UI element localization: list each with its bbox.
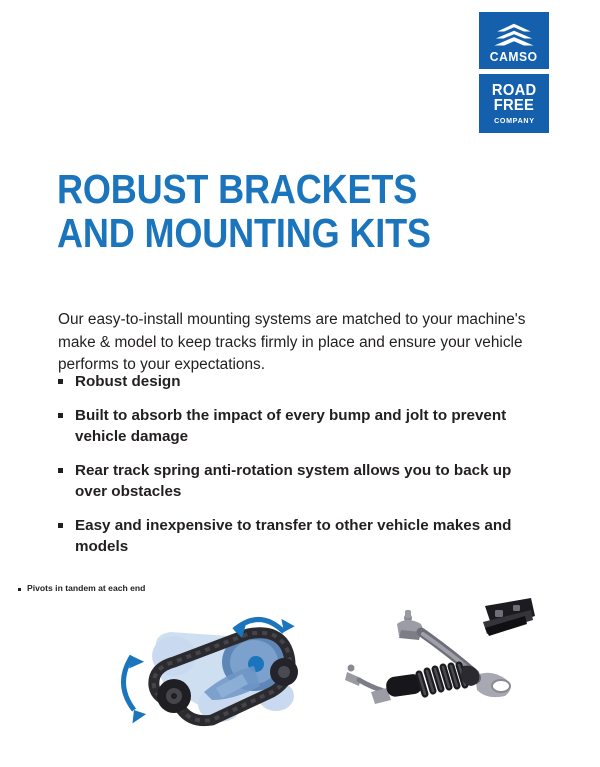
list-item: Robust design (58, 371, 528, 393)
mounting-hardware-graphic (335, 596, 535, 726)
track-system-graphic (108, 600, 338, 740)
square-bullet-icon (18, 588, 21, 591)
pivot-arrow-left-icon (123, 652, 147, 723)
list-item: Built to absorb the impact of every bump… (58, 405, 528, 448)
page-title-line-2: AND MOUNTING KITS (57, 212, 435, 256)
camso-logo: CAMSO (479, 12, 549, 69)
track-system-illustration (108, 600, 338, 740)
bullet-label: Rear track spring anti-rotation system a… (75, 460, 528, 503)
mounting-hardware-illustration (335, 596, 535, 726)
page-title-line-1: ROBUST BRACKETS (57, 168, 435, 212)
road-free-line-3: COMPANY (494, 117, 535, 125)
camso-swoosh-icon (493, 22, 535, 48)
bullet-label: Built to absorb the impact of every bump… (75, 405, 528, 448)
road-free-company-badge: ROAD FREE COMPANY (479, 74, 549, 133)
coil-spring-icon (419, 665, 465, 694)
bullet-label: Easy and inexpensive to transfer to othe… (75, 515, 528, 558)
road-free-line-1: ROAD (492, 83, 536, 99)
road-free-line-2: FREE (494, 98, 534, 114)
footnote-label: Pivots in tandem at each end (27, 583, 145, 593)
square-bullet-icon (58, 468, 63, 473)
camso-wordmark: CAMSO (490, 50, 538, 63)
intro-paragraph: Our easy-to-install mounting systems are… (58, 309, 528, 376)
square-bullet-icon (58, 523, 63, 528)
list-item: Rear track spring anti-rotation system a… (58, 460, 528, 503)
square-bullet-icon (58, 379, 63, 384)
page-title: ROBUST BRACKETS AND MOUNTING KITS (57, 168, 435, 256)
bracket-rail-part (483, 598, 535, 636)
list-item: Easy and inexpensive to transfer to othe… (58, 515, 528, 558)
spring-assembly-part (345, 665, 479, 705)
brand-logo-stack: CAMSO ROAD FREE COMPANY (479, 12, 549, 133)
square-bullet-icon (58, 413, 63, 418)
feature-bullet-list: Robust design Built to absorb the impact… (58, 371, 528, 570)
bullet-label: Robust design (75, 371, 180, 393)
footnote: Pivots in tandem at each end (18, 583, 145, 593)
